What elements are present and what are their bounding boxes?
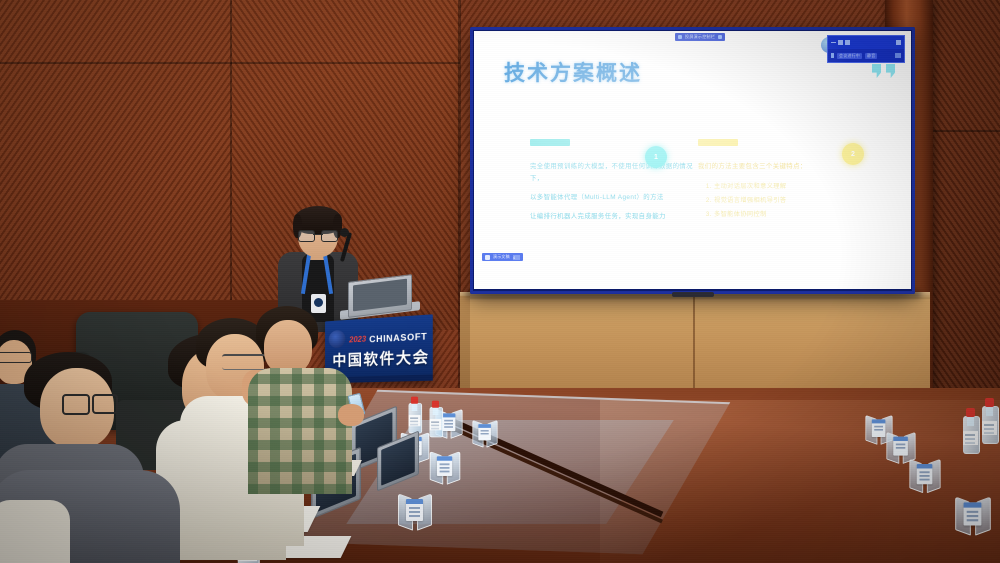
- slide-column-left: 完全使用预训练的大模型，不使用任何训练数据的情况下， 以多智能体代理（Multi…: [530, 139, 700, 229]
- name-tent: [955, 499, 991, 531]
- restore-icon[interactable]: [845, 40, 850, 45]
- presenter-badge: [311, 294, 326, 313]
- presentation-screen: 投屏演示控制栏 会议进行中 静音: [474, 31, 911, 289]
- bottle-label: [430, 419, 442, 430]
- conference-overlay-window[interactable]: 会议进行中 静音: [827, 35, 905, 63]
- banner-name-english: CHINASOFT: [369, 331, 427, 344]
- bottle-cap: [411, 397, 418, 404]
- wall-seam-right-1: [933, 130, 1000, 132]
- close-icon[interactable]: [896, 40, 901, 45]
- slide-title: 技术方案概述: [504, 57, 642, 87]
- slide-paragraph: 让编排行机器人完成服务任务，实现自身能力: [530, 211, 700, 223]
- slide-numbered-list: 主动对话层次和意义理解 视觉语言增强相机导引答 多智能体协同控制: [698, 180, 878, 223]
- maximize-icon[interactable]: [838, 40, 843, 45]
- name-tent: [909, 461, 940, 489]
- slide-footer-badge[interactable]: 演示文稿 4: [482, 253, 523, 261]
- attendee-4-glasses: [222, 354, 266, 370]
- attendee-5-head: [264, 320, 312, 374]
- list-item: 多智能体协同控制: [714, 208, 878, 222]
- name-card: [478, 424, 491, 440]
- signal-icon: [678, 35, 682, 39]
- attendee-hand-holding-phone: [338, 404, 364, 426]
- overlay-statusbar: 会议进行中 静音: [828, 49, 904, 62]
- name-tent: [430, 454, 461, 481]
- slide-paragraph: 完全使用预训练的大模型，不使用任何训练数据的情况下，: [530, 161, 700, 185]
- bottle-label: [963, 431, 978, 445]
- list-item: 主动对话层次和意义理解: [714, 180, 878, 194]
- presenter-glasses: [298, 230, 338, 240]
- accent-bar-yellow: [698, 139, 738, 146]
- name-card: [893, 437, 908, 456]
- quote-mark-left-icon: [872, 64, 881, 78]
- minimize-icon[interactable]: [831, 42, 836, 43]
- wall-panel-left: [0, 0, 232, 330]
- name-tent: [886, 434, 915, 460]
- quotation-marks-decoration: [872, 64, 895, 78]
- name-card: [964, 502, 982, 525]
- name-card: [406, 499, 423, 521]
- name-card: [442, 413, 456, 431]
- water-bottle: [409, 397, 421, 434]
- name-card: [437, 456, 452, 476]
- speaker-icon[interactable]: [895, 53, 901, 58]
- name-card: [917, 464, 933, 484]
- mic-icon[interactable]: [831, 53, 834, 58]
- slide-badge-2: 2: [842, 143, 864, 165]
- conference-room-photo: 投屏演示控制栏 会议进行中 静音: [0, 0, 1000, 563]
- accent-bar-cyan: [530, 139, 570, 146]
- slide-paragraph: 以多智能体代理（Multi-LLM Agent）的方法: [530, 192, 700, 204]
- attendee-5-plaid-coat: [248, 368, 352, 494]
- name-tent: [398, 496, 432, 526]
- tv-stand: [672, 292, 714, 297]
- screen-toolbar-label: 投屏演示控制栏: [685, 34, 715, 40]
- attendee-2-glasses: [62, 394, 118, 411]
- bottle-label: [409, 415, 421, 426]
- overlay-status-left: 会议进行中: [837, 53, 862, 59]
- attendee-laptop[interactable]: [377, 439, 419, 483]
- screen-toolbar[interactable]: 投屏演示控制栏: [675, 33, 725, 41]
- wall-display[interactable]: 投屏演示控制栏 会议进行中 静音: [470, 27, 915, 294]
- overlay-status-right: 静音: [865, 53, 877, 59]
- overlay-titlebar: [828, 36, 904, 49]
- wall-seam-vertical: [230, 0, 232, 330]
- name-card: [872, 419, 886, 437]
- footer-page-number: 4: [513, 255, 520, 260]
- banner-year: 2023: [349, 335, 366, 345]
- banner-name-chinese: 中国软件大会: [332, 346, 429, 371]
- foreground-sleeve: [0, 500, 70, 563]
- slide-badge-1: 1: [645, 146, 667, 168]
- bottle-cap: [966, 408, 975, 417]
- attendee-1-glasses: [0, 352, 32, 363]
- name-tent: [472, 422, 497, 444]
- conference-emblem-icon: [329, 330, 346, 348]
- water-bottle: [963, 408, 978, 454]
- water-bottle: [430, 401, 442, 438]
- presentation-icon: [485, 255, 490, 260]
- wall-panel-right: [930, 0, 1000, 430]
- quote-mark-right-icon: [886, 64, 895, 78]
- bottle-label: [982, 421, 997, 435]
- bottle-cap: [432, 401, 439, 408]
- toolbar-action-icon[interactable]: [718, 35, 722, 39]
- footer-label: 演示文稿: [493, 254, 510, 260]
- microphone-head: [340, 228, 349, 237]
- bottle-cap: [985, 398, 994, 407]
- overlay-window-controls[interactable]: [831, 40, 850, 45]
- list-item: 视觉语言增强相机导引答: [714, 194, 878, 208]
- water-bottle: [982, 398, 997, 444]
